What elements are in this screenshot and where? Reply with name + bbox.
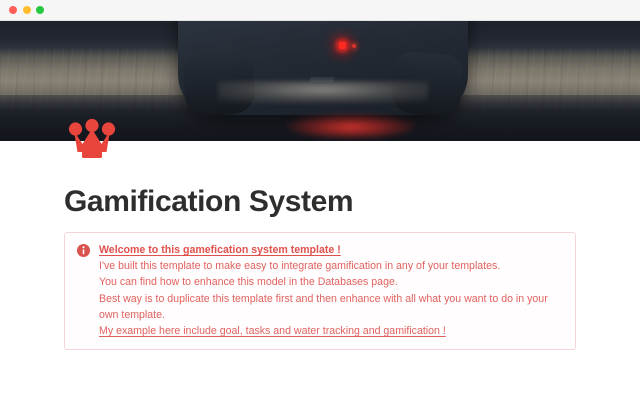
info-callout[interactable]: Welcome to this gamefication system temp… — [64, 232, 576, 350]
callout-text-block: Welcome to this gamefication system temp… — [99, 242, 561, 339]
callout-line-4: Best way is to duplicate this template f… — [99, 291, 561, 323]
controller-led-indicator — [339, 42, 346, 49]
callout-line-2: I've built this template to make easy to… — [99, 258, 561, 274]
window-titlebar — [0, 0, 640, 21]
info-circle-icon — [77, 244, 90, 257]
close-window-button[interactable] — [9, 6, 17, 14]
floor-reflection-highlight — [218, 81, 428, 103]
page-content: Gamification System Welcome to this game… — [0, 141, 640, 400]
callout-line-headline[interactable]: Welcome to this gamefication system temp… — [99, 242, 561, 258]
led-floor-glow — [286, 114, 416, 138]
traffic-light-controls — [9, 6, 44, 14]
crown-icon[interactable] — [68, 118, 116, 160]
callout-line-3: You can find how to enhance this model i… — [99, 274, 561, 290]
callout-line-link[interactable]: My example here include goal, tasks and … — [99, 323, 561, 339]
controller-led-secondary — [352, 44, 356, 48]
app-window: SONY Gamification System — [0, 0, 640, 400]
page-title[interactable]: Gamification System — [64, 185, 353, 219]
minimize-window-button[interactable] — [23, 6, 31, 14]
maximize-window-button[interactable] — [36, 6, 44, 14]
